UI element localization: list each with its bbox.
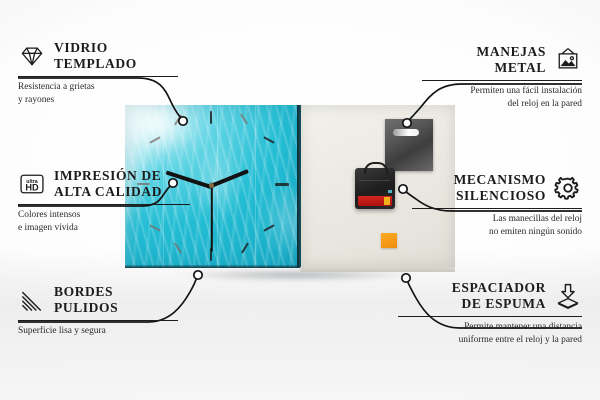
callout-impresion-alta-calidad: ultra HD IMPRESIÓN DE ALTA CALIDAD Color… bbox=[18, 168, 190, 234]
infographic-canvas: VIDRIO TEMPLADO Resistencia a grietas y … bbox=[0, 0, 600, 400]
ultra-hd-icon: ultra HD bbox=[18, 170, 46, 198]
callout-rule bbox=[412, 208, 582, 209]
callout-header: MANEJAS METAL bbox=[422, 44, 582, 77]
callout-title: IMPRESIÓN DE ALTA CALIDAD bbox=[54, 168, 162, 201]
clock-second-hand bbox=[211, 186, 213, 252]
callout-header: ultra HD IMPRESIÓN DE ALTA CALIDAD bbox=[18, 168, 190, 201]
callout-title: MANEJAS METAL bbox=[477, 44, 546, 77]
callout-header: BORDES PULIDOS bbox=[18, 284, 178, 317]
callout-manejas-metal: MANEJAS METAL Permiten una fácil instala… bbox=[422, 44, 582, 110]
battery bbox=[358, 196, 392, 206]
callout-description: Las manecillas del reloj no emiten ningú… bbox=[412, 213, 582, 238]
callout-espaciador-de-espuma: ESPACIADOR DE ESPUMA Permite mantener un… bbox=[398, 280, 582, 346]
callout-description: Permiten una fácil instalación del reloj… bbox=[422, 85, 582, 110]
metal-hanger-plate bbox=[385, 119, 433, 171]
callout-title: MECANISMO SILENCIOSO bbox=[454, 172, 546, 205]
callout-vidrio-templado: VIDRIO TEMPLADO Resistencia a grietas y … bbox=[18, 40, 178, 106]
callout-title: VIDRIO TEMPLADO bbox=[54, 40, 137, 73]
callout-header: MECANISMO SILENCIOSO bbox=[412, 172, 582, 205]
diagonal-lines-icon bbox=[18, 286, 46, 314]
quartz-mechanism bbox=[355, 168, 395, 209]
gear-icon bbox=[554, 174, 582, 202]
clock-center-hub bbox=[209, 183, 214, 188]
callout-header: VIDRIO TEMPLADO bbox=[18, 40, 178, 73]
callout-rule bbox=[422, 80, 582, 81]
arrow-down-onto-layers-icon bbox=[554, 282, 582, 310]
callout-rule bbox=[18, 204, 190, 205]
diamond-icon bbox=[18, 42, 46, 70]
svg-text:HD: HD bbox=[25, 183, 39, 193]
callout-description: Permite mantener una distancia uniforme … bbox=[398, 321, 582, 346]
callout-bordes-pulidos: BORDES PULIDOS Superficie lisa y segura bbox=[18, 284, 178, 338]
callout-description: Colores intensos e imagen vívida bbox=[18, 209, 190, 234]
callout-title: ESPACIADOR DE ESPUMA bbox=[452, 280, 546, 313]
callout-mecanismo-silencioso: MECANISMO SILENCIOSO Las manecillas del … bbox=[412, 172, 582, 238]
callout-header: ESPACIADOR DE ESPUMA bbox=[398, 280, 582, 313]
callout-description: Superficie lisa y segura bbox=[18, 325, 178, 338]
callout-rule bbox=[18, 76, 178, 77]
foam-spacer bbox=[381, 233, 397, 248]
callout-rule bbox=[398, 316, 582, 317]
callout-title: BORDES PULIDOS bbox=[54, 284, 118, 317]
picture-frame-hanging-icon bbox=[554, 46, 582, 74]
callout-rule bbox=[18, 320, 178, 321]
callout-description: Resistencia a grietas y rayones bbox=[18, 81, 178, 106]
